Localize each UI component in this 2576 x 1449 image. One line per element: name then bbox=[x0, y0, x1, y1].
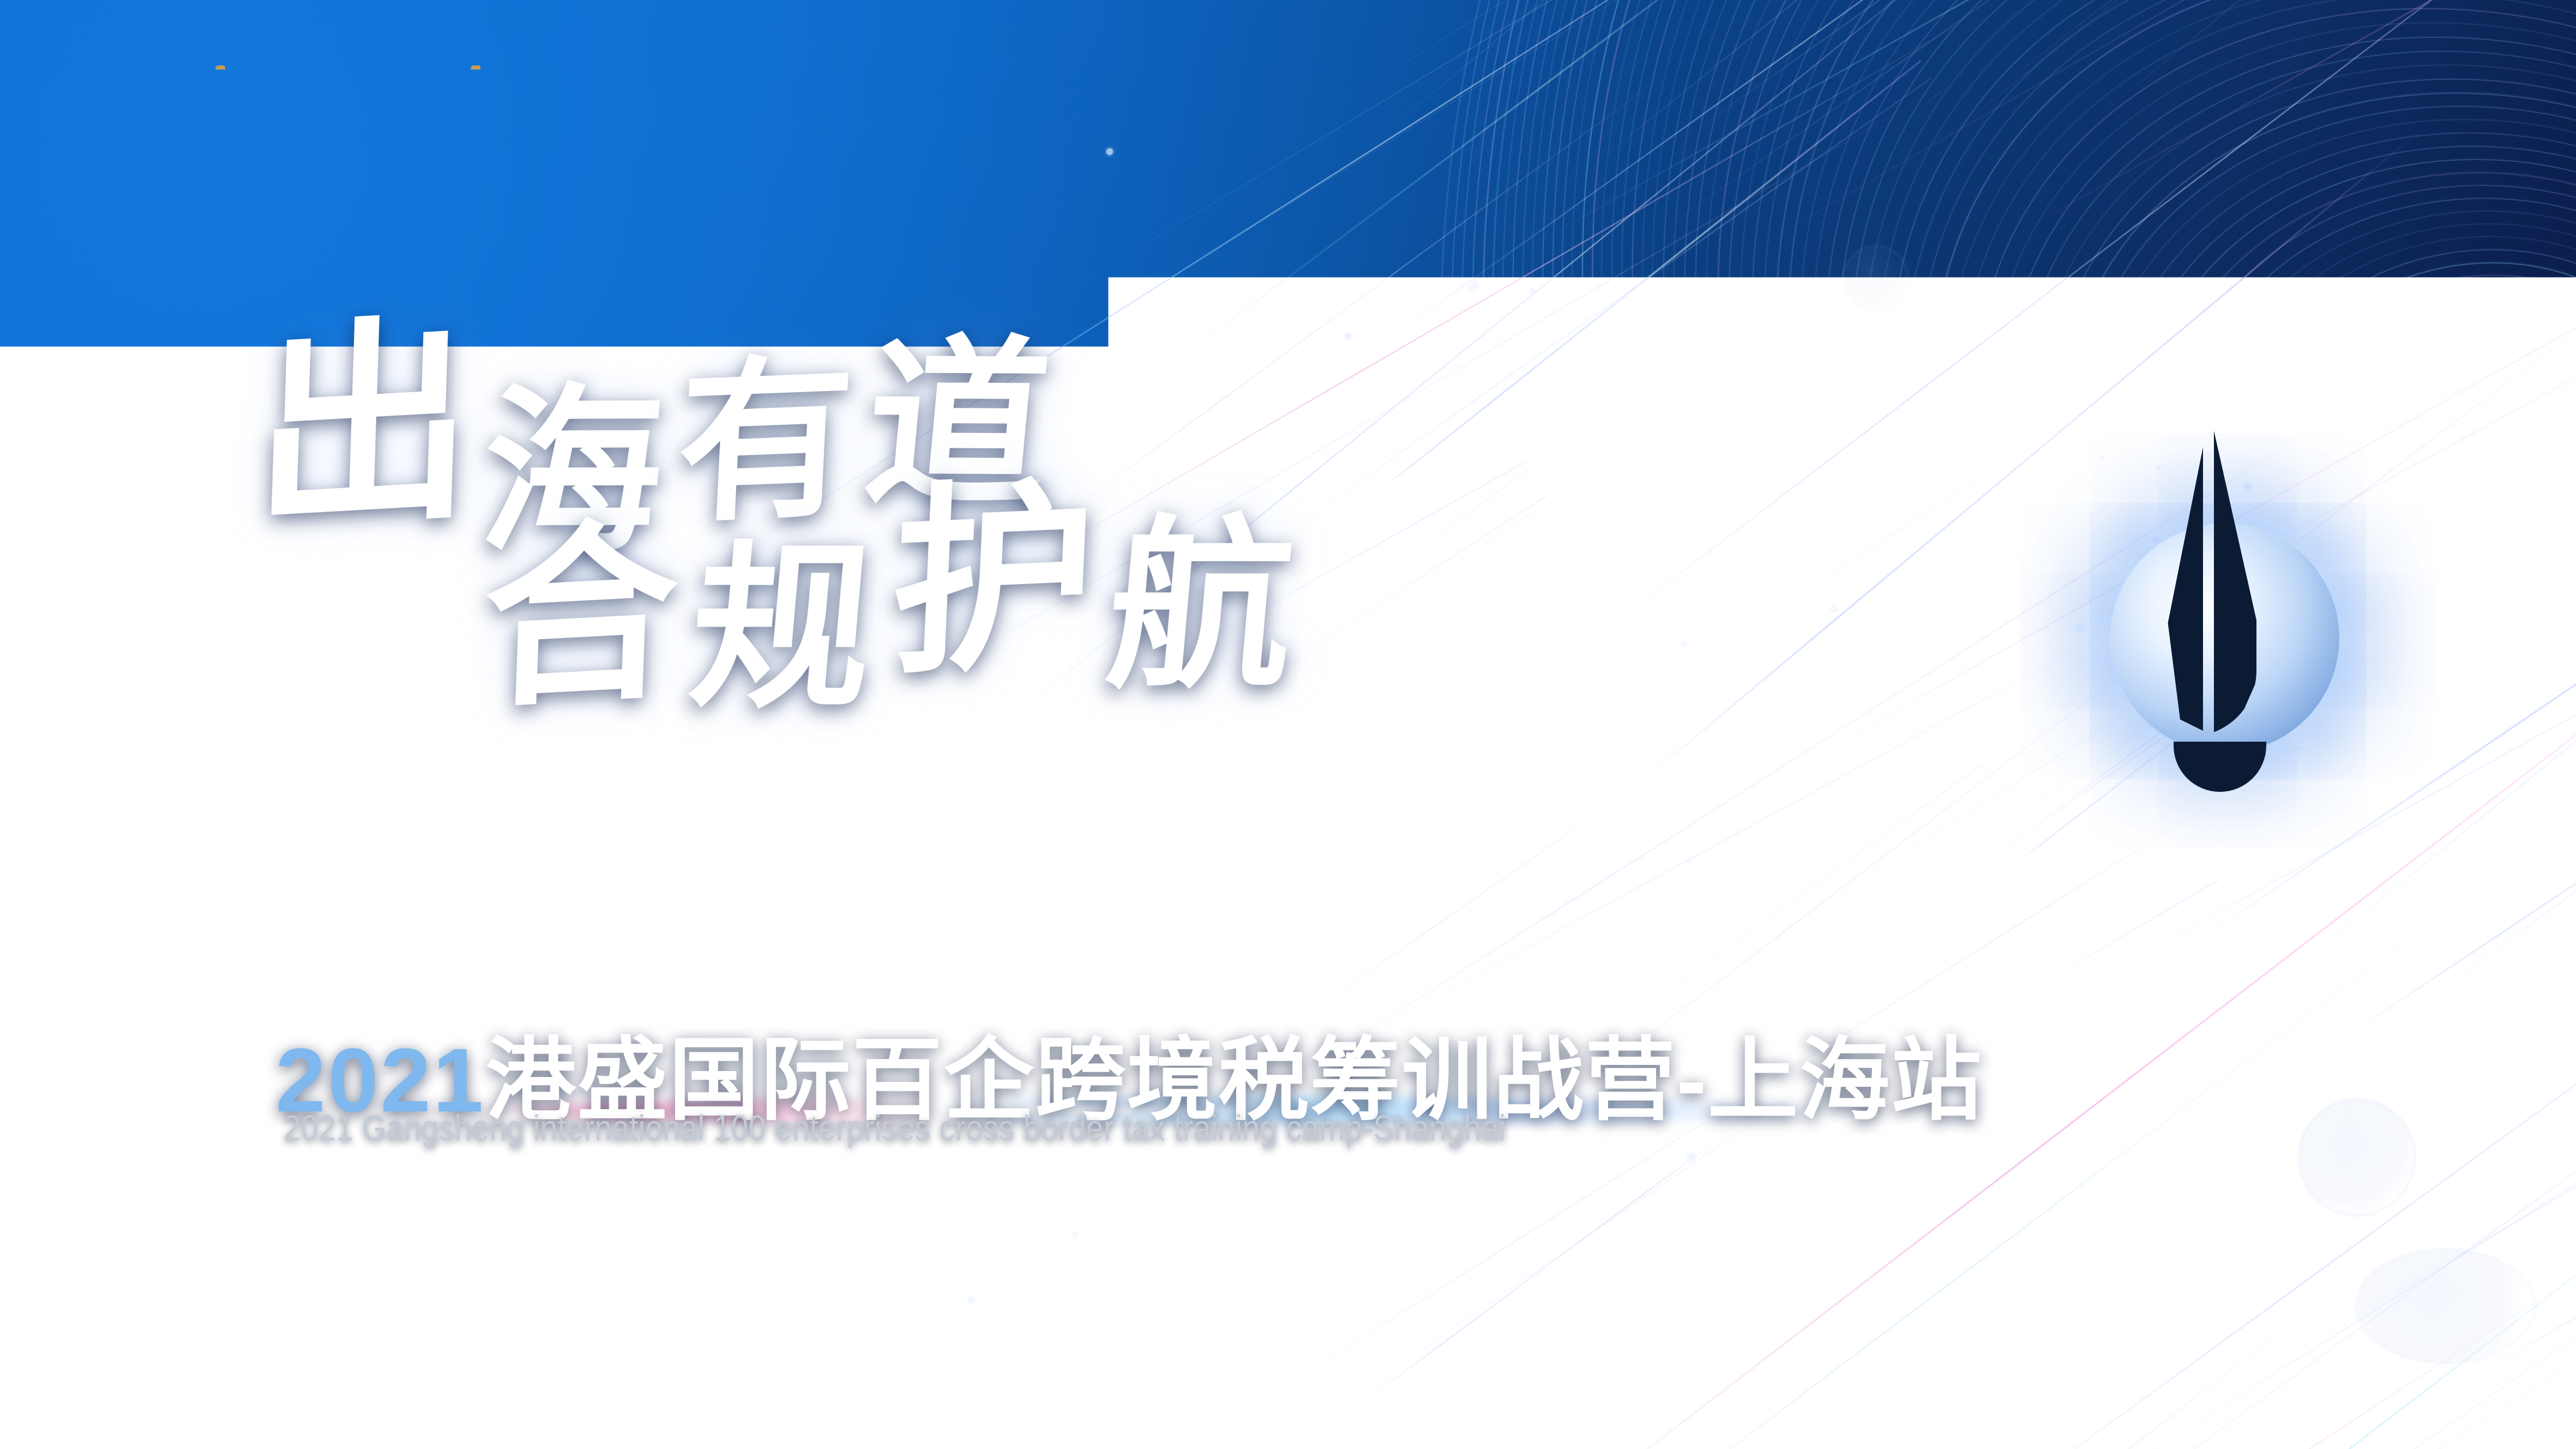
logo-word-gold: Gold bbox=[377, 69, 460, 115]
title-line-2: 合规护航 bbox=[478, 476, 1845, 686]
logo-bar: Gold Sailing 港 盛 国 际 Gold Sailing 港 盛 移 … bbox=[123, 65, 978, 157]
title-char: 出 bbox=[251, 318, 490, 532]
bokeh-circle bbox=[1843, 245, 1909, 311]
logo-word-sailing: Sailing bbox=[231, 69, 348, 115]
logo-word-sailing: Sailing bbox=[486, 69, 603, 115]
registered-trademark-icon: ® bbox=[587, 115, 595, 129]
page-title: 出海有道 合规护航 bbox=[256, 305, 1838, 674]
jin-sheng-emblem-icon: S bbox=[652, 68, 734, 149]
title-char: 规 bbox=[685, 545, 896, 711]
title-char: 航 bbox=[1102, 521, 1316, 690]
bokeh-circle bbox=[2356, 1249, 2536, 1363]
logo-jin-sheng-international[interactable]: S 晋昇国际 JIN SHENG INTERNATIONAL bbox=[652, 65, 978, 149]
logo-word-gold: Gold bbox=[123, 69, 206, 115]
event-poster: Gold Sailing 港 盛 国 际 Gold Sailing 港 盛 移 … bbox=[0, 0, 2576, 1449]
title-char: 合 bbox=[480, 521, 697, 710]
title-char: 护 bbox=[888, 482, 1116, 677]
logo-gold-sailing-immigration[interactable]: Gold Sailing 港 盛 移 民 ® bbox=[377, 65, 603, 157]
laurel-wreath-icon bbox=[652, 112, 734, 148]
sailboat-icon bbox=[2154, 431, 2296, 813]
logo-cn-name: 港 盛 移 民 ® bbox=[399, 121, 581, 157]
logo-en-name: JIN SHENG INTERNATIONAL bbox=[748, 121, 978, 137]
logo-gold-sailing-international[interactable]: Gold Sailing 港 盛 国 际 bbox=[123, 65, 348, 157]
gold-sail-icon bbox=[207, 65, 228, 118]
sailboat-hull bbox=[2174, 742, 2266, 792]
logo-cn-name: 晋昇国际 bbox=[748, 80, 978, 116]
subtitle-english: 2021 Gangsheng international 100 enterpr… bbox=[284, 1107, 1506, 1149]
logo-cn-name: 港 盛 国 际 bbox=[145, 121, 327, 157]
bokeh-circle bbox=[2298, 1099, 2416, 1216]
sailboat-sail-back bbox=[2165, 447, 2203, 731]
gold-sail-icon bbox=[462, 65, 484, 118]
